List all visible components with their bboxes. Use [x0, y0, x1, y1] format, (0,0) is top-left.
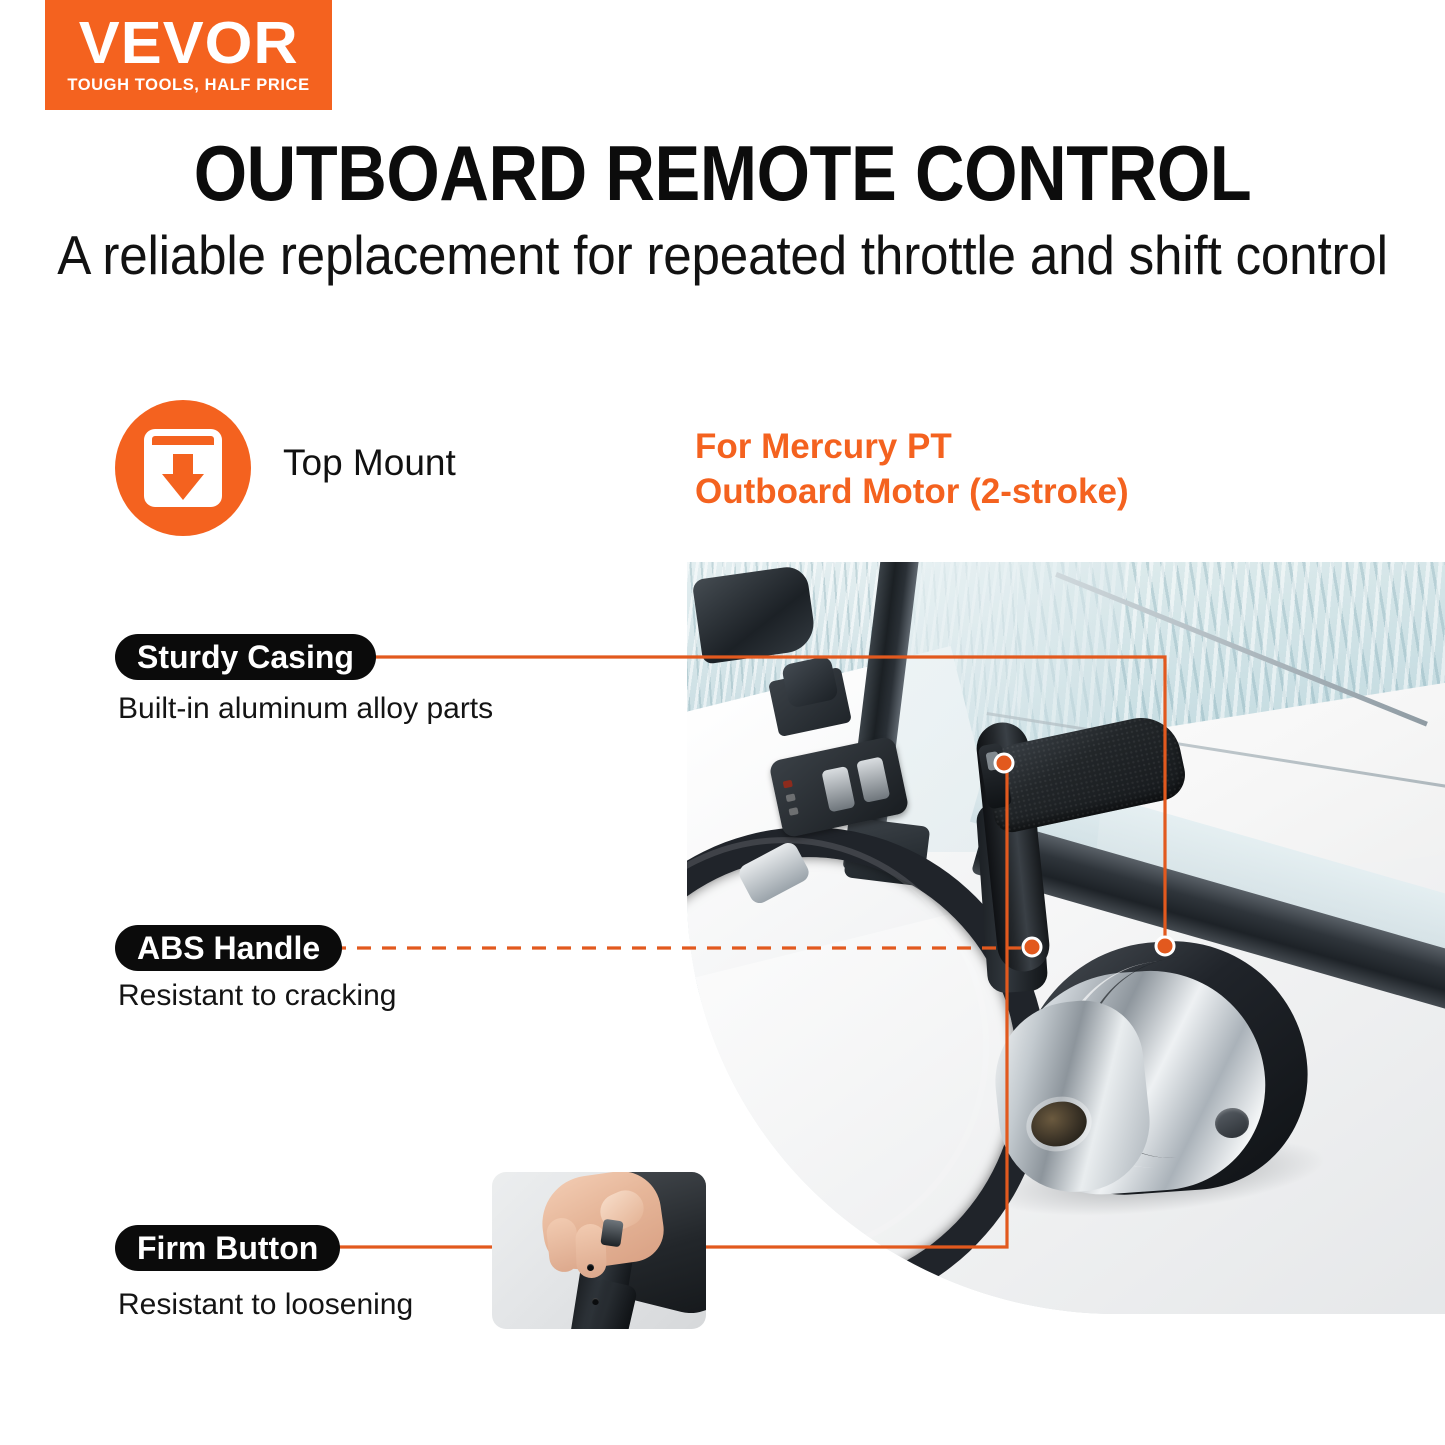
- feature-label-sturdy-casing: Sturdy Casing: [115, 634, 376, 680]
- handle-screw-hole: [592, 1298, 599, 1305]
- compatibility-note: For Mercury PT Outboard Motor (2-stroke): [695, 425, 1129, 515]
- brand-logo: VEVOR TOUGH TOOLS, HALF PRICE: [45, 0, 332, 110]
- brand-tagline: TOUGH TOOLS, HALF PRICE: [67, 76, 309, 95]
- indicator-led: [783, 780, 793, 789]
- page-title: OUTBOARD REMOTE CONTROL: [87, 134, 1359, 212]
- handle-screw-hole: [587, 1264, 594, 1271]
- page-subtitle: A reliable replacement for repeated thro…: [51, 228, 1395, 283]
- handle-button: [600, 1219, 623, 1248]
- top-mount-box-arrow-icon: [115, 400, 251, 536]
- feature-description-firm-button: Resistant to loosening: [118, 1288, 413, 1322]
- compatibility-line-1: For Mercury PT: [695, 425, 1129, 470]
- main-product-photo: [687, 562, 1445, 1314]
- compatibility-line-2: Outboard Motor (2-stroke): [695, 470, 1129, 515]
- indicator-led: [788, 807, 798, 816]
- feature-label-abs-handle: ABS Handle: [115, 925, 342, 971]
- mount-label: Top Mount: [283, 442, 456, 484]
- feature-description-sturdy-casing: Built-in aluminum alloy parts: [118, 692, 493, 726]
- icon-box-lid: [152, 436, 214, 445]
- feature-label-firm-button: Firm Button: [115, 1225, 340, 1271]
- brand-name: VEVOR: [78, 15, 298, 71]
- icon-arrow-head: [162, 474, 204, 500]
- indicator-led: [786, 793, 796, 802]
- infographic-canvas: VEVOR TOUGH TOOLS, HALF PRICE OUTBOARD R…: [0, 0, 1445, 1445]
- rocker-switch: [821, 766, 855, 812]
- rocker-switch: [856, 756, 890, 802]
- inset-handle-photo: [492, 1172, 706, 1329]
- feature-description-abs-handle: Resistant to cracking: [118, 979, 396, 1013]
